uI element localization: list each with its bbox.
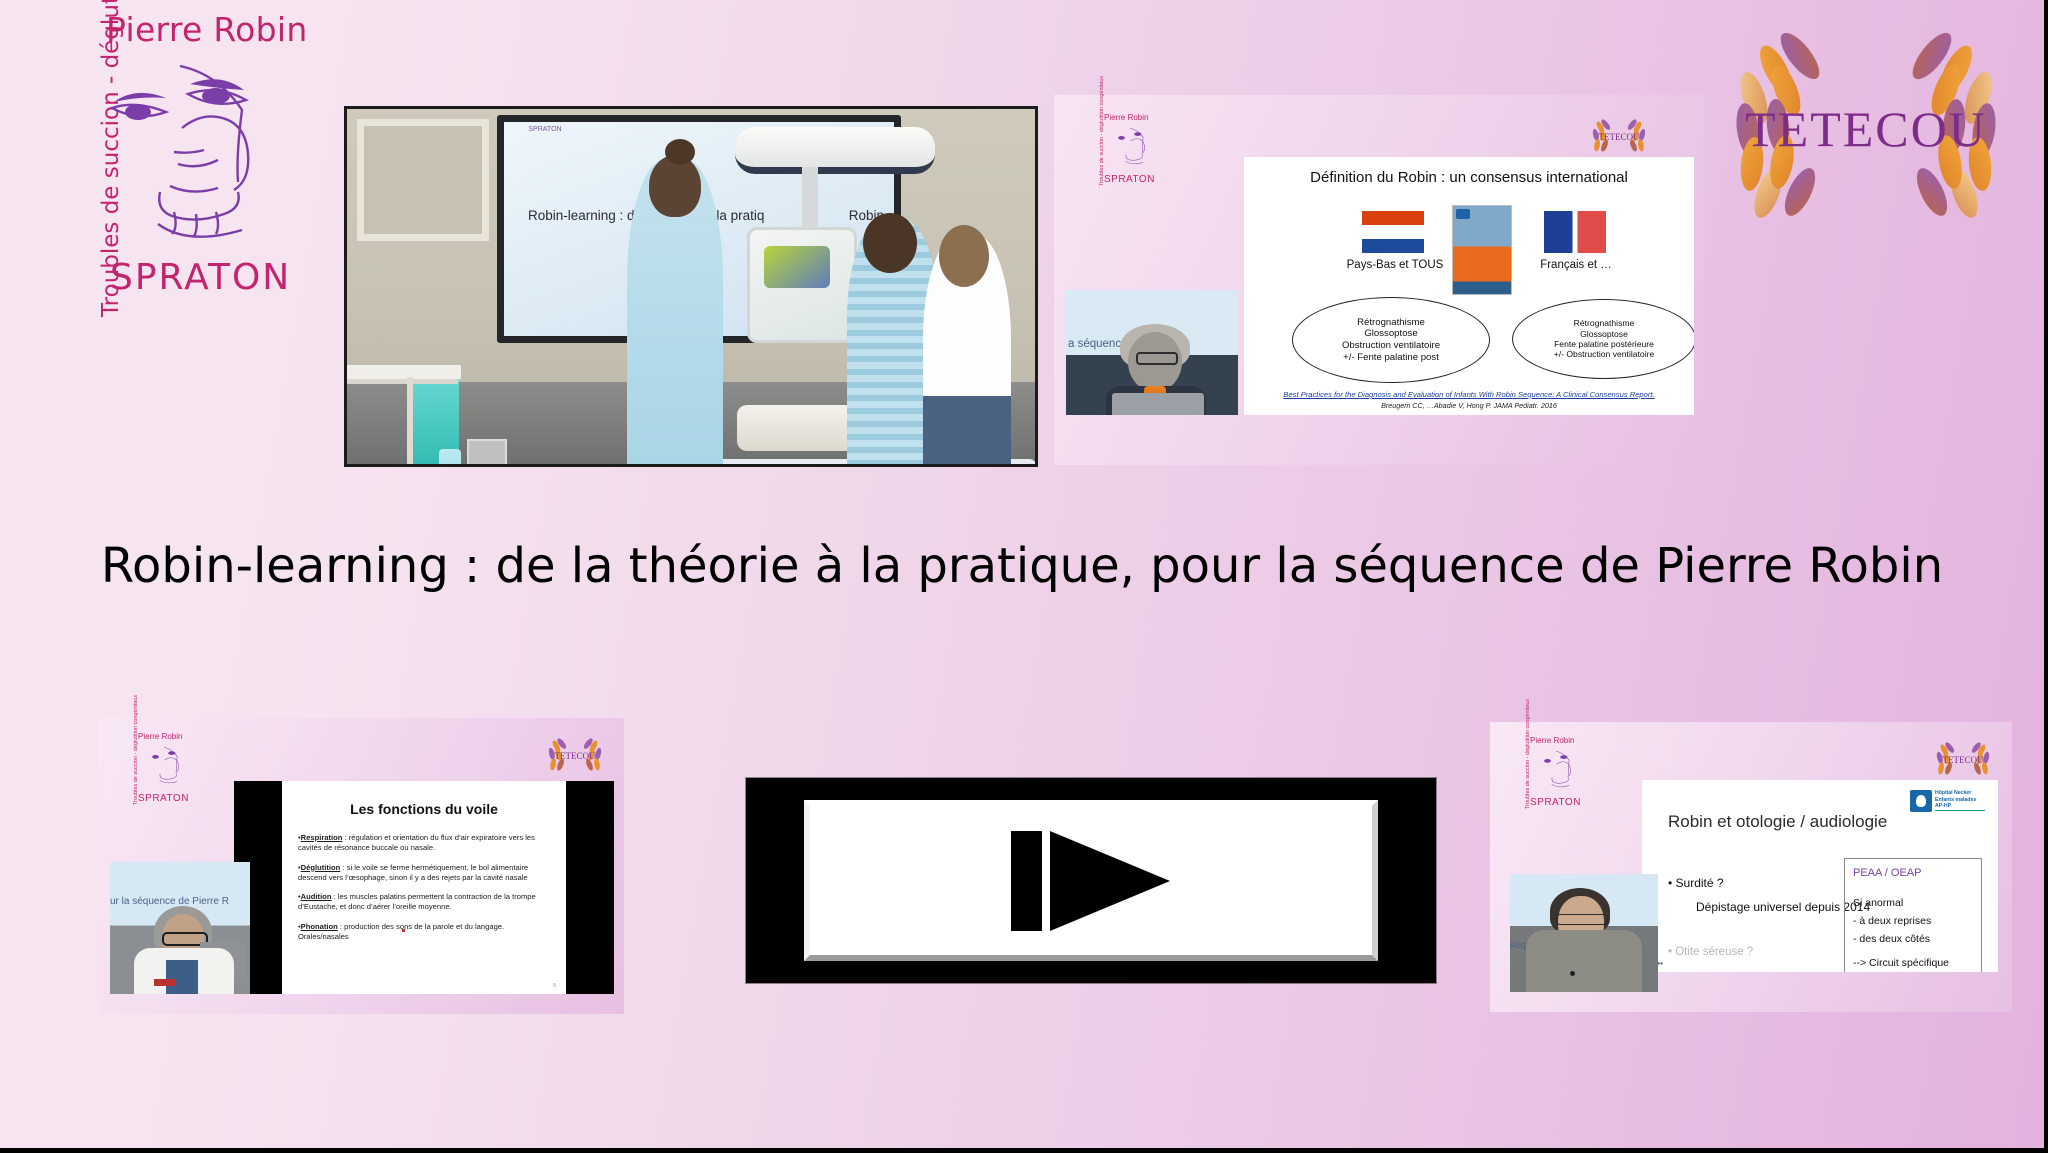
photo-radiant-warmer	[735, 127, 935, 174]
photo-sanitizer-bottle	[439, 449, 461, 467]
spraton-logo-acronym: SPRATON	[110, 257, 291, 298]
voile-slide-bullets: •Respiration : régulation et orientation…	[298, 833, 552, 951]
mini-spraton-title: Pierre Robin	[1530, 736, 1574, 745]
speaker-shirt	[166, 960, 198, 994]
mini-pierre-robin-face-icon	[1102, 122, 1156, 170]
slide-citation-link[interactable]: Best Practices for the Diagnosis and Eva…	[1244, 390, 1694, 399]
pierre-robin-face-icon	[74, 36, 274, 266]
mini-tetecou-wordmark: TETECOU	[1932, 736, 1994, 784]
mini-spraton-acronym: SPRATON	[1104, 174, 1155, 185]
video-thumbnail-otologie[interactable]: Pierre Robin Troubles de succion - déglu…	[1490, 722, 2012, 1012]
mini-spraton-logo: Pierre Robin Troubles de succion - déglu…	[116, 732, 192, 806]
speaker-video-inset: séquence … Robin	[1510, 874, 1658, 992]
otologie-bullet-2: • Otite séreuse ?	[1668, 946, 1753, 958]
tetecou-logo: TETECOU	[1716, 18, 2016, 218]
voile-bullet-2: •Déglutition : si le voile se ferme herm…	[298, 863, 552, 884]
photo-ventilator-device	[747, 227, 857, 343]
necker-logo-mark	[1910, 790, 1932, 812]
speaker-video-inset: ur la séquence de Pierre R	[110, 862, 250, 994]
netherlands-caption: Pays-Bas et TOUS	[1332, 259, 1458, 271]
info-box-line-4: --> Circuit spécifique	[1853, 957, 1949, 969]
tetecou-wordmark: TETECOU	[1716, 100, 2016, 158]
definition-slide-title: Définition du Robin : un consensus inter…	[1244, 169, 1694, 186]
mini-tetecou-wordmark: TETECOU	[544, 732, 606, 780]
mini-spraton-acronym: SPRATON	[138, 793, 189, 804]
mini-spraton-title: Pierre Robin	[138, 732, 182, 741]
mini-tetecou-logo: TETECOU	[1588, 113, 1650, 161]
info-box-line-1: Si anormal	[1853, 897, 1903, 909]
play-icon-triangle	[1050, 831, 1170, 931]
info-box-line-3: - des deux côtés	[1853, 933, 1930, 945]
necker-logo-text: Hôpital Necker Enfants malades AP-HP	[1935, 790, 1976, 810]
otologie-bullet-1: • Surdité ?	[1668, 876, 1724, 890]
mini-pierre-robin-face-icon	[1528, 745, 1582, 793]
info-box-line-2: - à deux reprises	[1853, 915, 1931, 927]
play-button-bevel[interactable]	[804, 800, 1378, 961]
page-title: Robin-learning : de la théorie à la prat…	[0, 538, 2044, 594]
play-icon	[1011, 831, 1171, 931]
otologie-slide: Robin et otologie / audiologie Hôpital N…	[1642, 780, 1998, 972]
presentation-poster: Pierre Robin Troubles de succion - déglu…	[0, 0, 2048, 1153]
speaker-body	[1526, 930, 1642, 992]
mini-pierre-robin-face-icon	[136, 741, 190, 789]
voile-red-marker	[402, 929, 405, 932]
video-thumbnail-definition[interactable]: Pierre Robin Troubles de succion - déglu…	[1054, 95, 1704, 465]
otologie-info-box: PEAA / OEAP Si anormal - à deux reprises…	[1844, 858, 1982, 972]
necker-logo-rule	[1935, 810, 1985, 811]
criteria-oval-left: Rétrognathisme Glossoptose Obstruction v…	[1292, 297, 1490, 383]
speaker-laptop	[1112, 393, 1204, 415]
voile-bullet-1: •Respiration : régulation et orientation…	[298, 833, 552, 854]
photo-person-2-head	[863, 213, 917, 273]
otologie-slide-title: Robin et otologie / audiologie	[1668, 812, 1887, 832]
speaker-lapel-mic	[1570, 971, 1575, 976]
slide-citation-authors: Breugem CC, …Abadie V, Hong P. JAMA Pedi…	[1244, 401, 1694, 410]
photo-person-1-hair-bun	[665, 139, 695, 165]
mini-tetecou-logo: TETECOU	[1932, 736, 1994, 784]
speaker-badge	[154, 979, 176, 986]
screen-spraton-logo: SPRATON	[518, 126, 572, 148]
video-thumbnail-fonctions-voile[interactable]: Pierre Robin Troubles de succion - déglu…	[98, 718, 624, 1014]
photo-person-3-head	[939, 225, 989, 287]
spraton-logo: Pierre Robin Troubles de succion - déglu…	[14, 6, 314, 324]
mini-tetecou-logo: TETECOU	[544, 732, 606, 780]
photo-beaker	[467, 439, 507, 467]
speaker-inset-caption: ur la séquence de Pierre R	[110, 896, 229, 907]
photo-side-table	[344, 365, 461, 379]
voile-page-number: 5	[553, 983, 556, 989]
play-icon-bar	[1011, 831, 1042, 931]
netherlands-flag-icon	[1362, 211, 1424, 253]
speaker-glasses	[1556, 914, 1608, 925]
photo-wall-frame	[357, 119, 489, 241]
france-flag-icon	[1544, 211, 1606, 253]
voile-bullet-4: •Phonation : production des sons de la p…	[298, 922, 552, 943]
training-session-photo[interactable]: SPRATON Robin-learning : de la théorie à…	[344, 106, 1038, 467]
photo-table-leg	[407, 377, 413, 467]
letterbox-frame: Les fonctions du voile •Respiration : ré…	[234, 781, 614, 994]
necker-hospital-logo: Hôpital Necker Enfants malades AP-HP	[1910, 790, 1986, 814]
mini-spraton-logo: Pierre Robin Troubles de succion - déglu…	[1082, 113, 1158, 187]
info-box-header: PEAA / OEAP	[1853, 867, 1921, 879]
voile-slide-title: Les fonctions du voile	[282, 801, 566, 817]
speaker-glasses	[1136, 352, 1178, 365]
definition-slide: Définition du Robin : un consensus inter…	[1244, 157, 1694, 415]
conference-poster-image	[1452, 205, 1512, 295]
mini-spraton-logo: Pierre Robin Troubles de succion - déglu…	[1508, 736, 1584, 810]
france-caption: Français et …	[1516, 259, 1636, 271]
criteria-oval-right: Rétrognathisme Glossoptose Fente palatin…	[1512, 299, 1694, 379]
voile-slide: Les fonctions du voile •Respiration : ré…	[282, 781, 566, 994]
mini-spraton-title: Pierre Robin	[1104, 113, 1148, 122]
mini-spraton-acronym: SPRATON	[1530, 797, 1581, 808]
voile-bullet-3: •Audition : les muscles palatins permett…	[298, 892, 552, 913]
play-media-button[interactable]	[746, 778, 1436, 983]
speaker-video-inset: a séquence de Robin	[1066, 290, 1238, 415]
mini-tetecou-wordmark: TETECOU	[1588, 113, 1650, 161]
